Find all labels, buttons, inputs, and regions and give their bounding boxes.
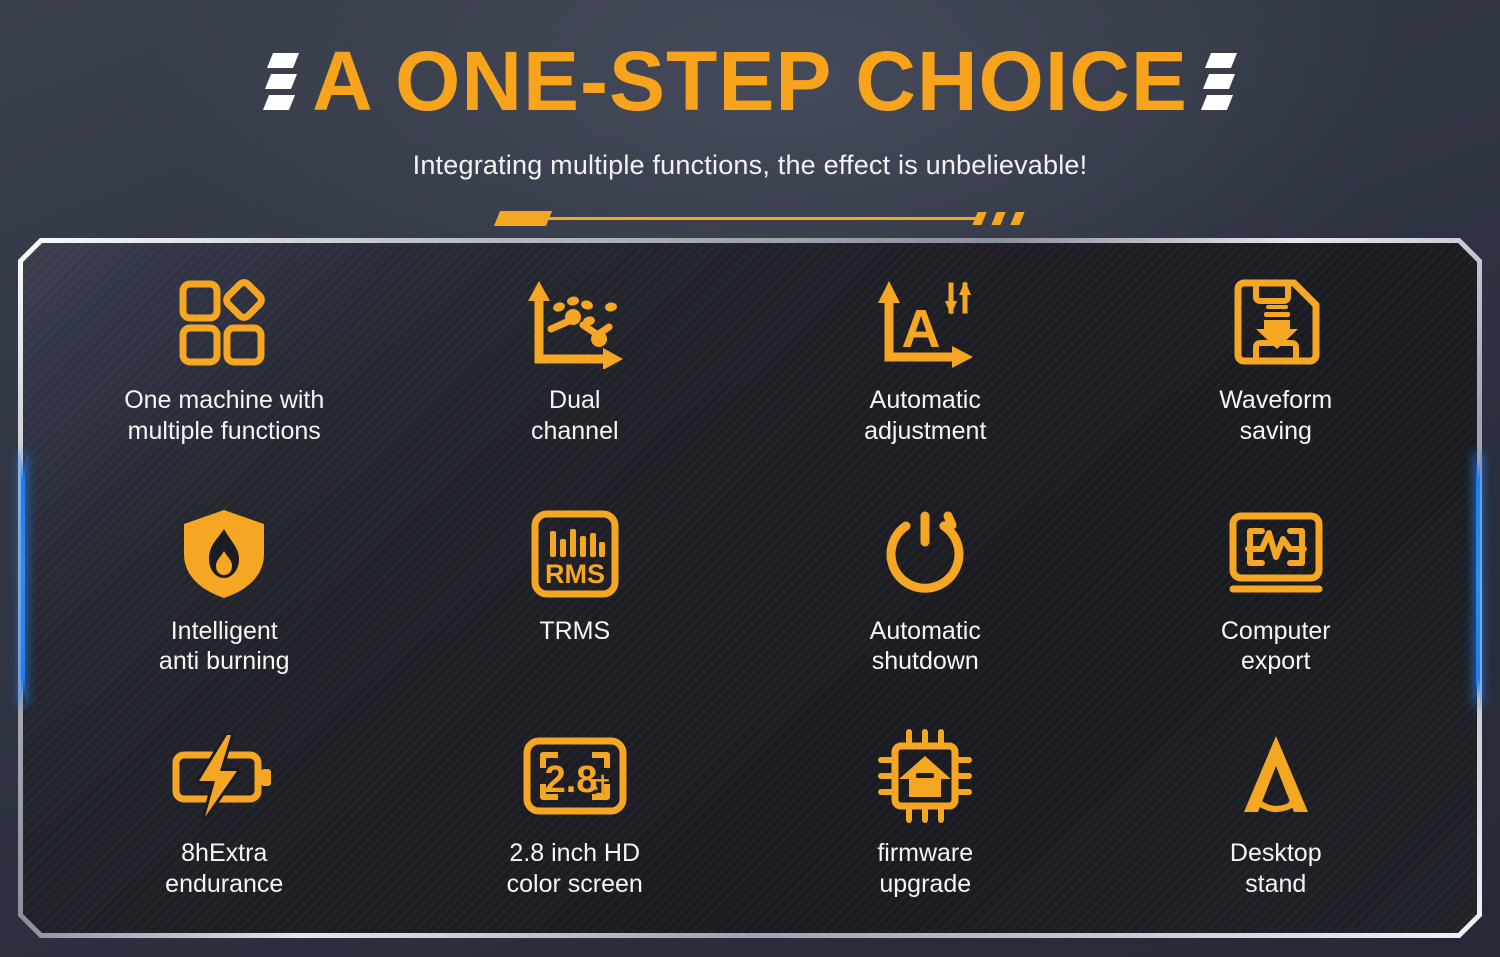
feature-label: firmware upgrade: [877, 838, 973, 899]
divider-block: [494, 211, 552, 226]
feature-item-one-machine: One machine with multiple functions: [49, 261, 400, 480]
feature-item-screen: 2.8 寸 2.8 inch HD color screen: [400, 698, 751, 917]
divider-line: [547, 217, 977, 220]
auto-letter: A: [902, 299, 941, 359]
shield-flame-icon: [179, 506, 269, 602]
feature-label: 2.8 inch HD color screen: [507, 838, 643, 899]
battery-bolt-icon: [171, 728, 277, 824]
dual-channel-scatter-chart-icon: [523, 275, 627, 371]
grid-squares-diamond-icon: [178, 275, 270, 371]
page-subtitle: Integrating multiple functions, the effe…: [0, 150, 1500, 181]
feature-label: Automatic shutdown: [870, 616, 981, 677]
feature-label: 8hExtra endurance: [165, 838, 283, 899]
screen-size-unit: 寸: [588, 774, 609, 798]
feature-item-desktop-stand: Desktop stand: [1101, 698, 1452, 917]
floppy-save-download-icon: [1230, 275, 1322, 371]
feature-item-endurance: 8hExtra endurance: [49, 698, 400, 917]
feature-label: Desktop stand: [1230, 838, 1322, 899]
feature-item-automatic-adjustment: A Automatic adjustment: [750, 261, 1101, 480]
page-title: A ONE-STEP CHOICE: [312, 39, 1188, 123]
feature-label: Automatic adjustment: [864, 385, 986, 446]
rms-bars-icon: RMS: [530, 506, 620, 602]
edge-glow-left: [21, 455, 25, 703]
feature-item-computer-export: Computer export: [1101, 480, 1452, 699]
feature-item-automatic-shutdown: Automatic shutdown: [750, 480, 1101, 699]
desktop-stand-icon: [1230, 728, 1322, 824]
feature-item-trms: RMS TRMS: [400, 480, 751, 699]
chip-upgrade-arrow-icon: [878, 728, 972, 824]
feature-label: Intelligent anti burning: [159, 616, 290, 677]
feature-label: Waveform saving: [1219, 385, 1332, 446]
feature-item-firmware-upgrade: firmware upgrade: [750, 698, 1101, 917]
feature-grid: One machine with multiple functions: [23, 243, 1477, 933]
section-divider: [497, 205, 1027, 231]
stripe-decoration-left-icon: [264, 53, 298, 110]
edge-glow-right: [1476, 455, 1480, 703]
divider-tick: [991, 212, 1005, 225]
divider-tick: [972, 212, 986, 225]
feature-label: Dual channel: [531, 385, 619, 446]
feature-item-waveform-saving: Waveform saving: [1101, 261, 1452, 480]
stripe-decoration-right-icon: [1202, 53, 1236, 110]
divider-tick: [1010, 212, 1024, 225]
screen-size-2-8-inch-icon: 2.8 寸: [523, 728, 627, 824]
feature-item-dual-channel: Dual channel: [400, 261, 751, 480]
power-shutdown-icon: [880, 506, 970, 602]
feature-panel: One machine with multiple functions: [18, 238, 1482, 938]
feature-label: TRMS: [539, 616, 610, 647]
rms-label: RMS: [545, 559, 605, 589]
feature-label: Computer export: [1221, 616, 1331, 677]
feature-label: One machine with multiple functions: [124, 385, 324, 446]
feature-item-anti-burning: Intelligent anti burning: [49, 480, 400, 699]
header: A ONE-STEP CHOICE Integrating multiple f…: [0, 0, 1500, 181]
feature-highlight-page: A ONE-STEP CHOICE Integrating multiple f…: [0, 0, 1500, 957]
monitor-waveform-icon: [1228, 506, 1324, 602]
title-row: A ONE-STEP CHOICE: [0, 26, 1500, 136]
auto-adjust-a-axes-icon: A: [873, 275, 977, 371]
